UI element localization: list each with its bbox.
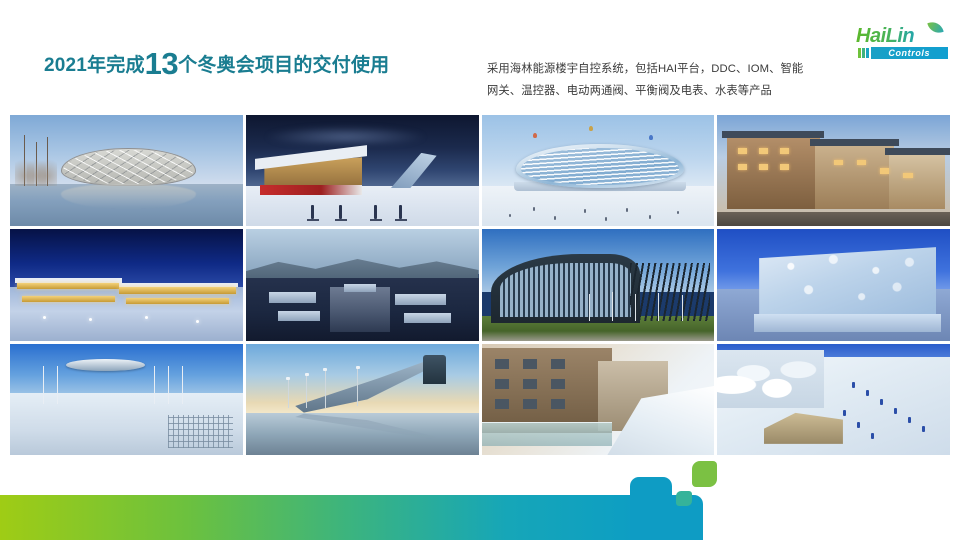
photo-snow-covered-hotel-block[interactable] xyxy=(482,344,715,455)
photo-gallery xyxy=(10,115,950,455)
footer-accent-square-green xyxy=(692,461,717,487)
photo-speed-skating-oval-ice-ribbon[interactable] xyxy=(482,115,715,226)
photo-ski-jump-tower-dusk[interactable] xyxy=(246,344,479,455)
description-line-2: 网关、温控器、电动两通阀、平衡阀及电表、水表等产品 xyxy=(487,80,839,102)
hailin-logo: HaiLin Controls xyxy=(856,26,948,62)
description-line-1: 采用海林能源楼宇自控系统，包括HAI平台，DDC、IOM、智能 xyxy=(487,58,839,80)
logo-tagline-bar: Controls xyxy=(856,47,948,59)
photo-big-air-snow-ruyi[interactable] xyxy=(10,344,243,455)
photo-national-stadium-birds-nest[interactable] xyxy=(10,115,243,226)
title-prefix: 2021年完成 xyxy=(44,55,145,76)
photo-ski-resort-slope-gondola[interactable] xyxy=(717,344,950,455)
photo-ski-venue-night-cross-country[interactable] xyxy=(246,115,479,226)
photo-alpine-resort-village-hotel[interactable] xyxy=(717,115,950,226)
title-suffix: 个冬奥会项目的交付使用 xyxy=(178,55,389,76)
footer-decoration xyxy=(0,454,960,540)
photo-mountain-village-aerial-dusk[interactable] xyxy=(246,229,479,340)
logo-tagline: Controls xyxy=(871,47,949,59)
title-number: 13 xyxy=(145,46,178,81)
page-title: 2021年完成13个冬奥会项目的交付使用 xyxy=(44,48,389,79)
slide-root: 2021年完成13个冬奥会项目的交付使用 采用海林能源楼宇自控系统，包括HAI平… xyxy=(0,0,960,540)
photo-illuminated-venue-night-snow[interactable] xyxy=(10,229,243,340)
bars-icon xyxy=(856,47,871,59)
photo-aquatics-center-water-cube[interactable] xyxy=(717,229,950,340)
photo-curved-glass-terminal-building[interactable] xyxy=(482,229,715,340)
footer-gradient-bar xyxy=(0,495,667,540)
description-text: 采用海林能源楼宇自控系统，包括HAI平台，DDC、IOM、智能 网关、温控器、电… xyxy=(487,58,839,102)
footer-accent-square-teal xyxy=(676,491,692,506)
